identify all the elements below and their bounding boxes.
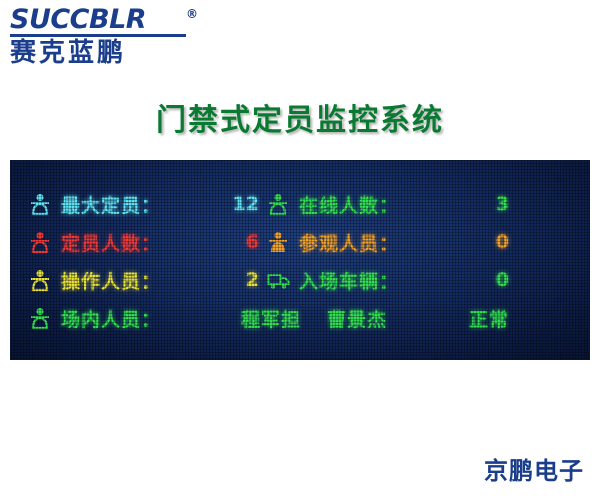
onsite-name-2: 曹景杰 bbox=[327, 305, 387, 332]
person-red-icon bbox=[29, 230, 51, 254]
visitor-count-label: 参观人员： bbox=[299, 229, 449, 256]
onsite-personnel-names: 程军担 曹景杰 正常 bbox=[215, 305, 513, 332]
assigned-count-label: 定员人数： bbox=[61, 229, 211, 256]
page-title: 门禁式定员监控系统 bbox=[0, 95, 600, 139]
footer-brand: 京鹏电子 bbox=[484, 451, 584, 486]
max-capacity-value: 12 bbox=[215, 193, 263, 215]
company-logo: SUCCBLR ® 赛克蓝鹏 bbox=[10, 6, 230, 68]
logo-latin-label: SUCCBLR bbox=[10, 4, 146, 35]
assigned-count-value: 6 bbox=[215, 231, 263, 253]
operator-count-value: 2 bbox=[215, 269, 263, 291]
logo-chinese-text: 赛克蓝鹏 bbox=[10, 39, 230, 68]
vehicles-entered-value: 0 bbox=[453, 269, 513, 291]
registered-trademark-icon: ® bbox=[186, 8, 198, 20]
person-green-icon bbox=[267, 192, 289, 216]
operator-count-label: 操作人员： bbox=[61, 267, 211, 294]
truck-green-icon bbox=[267, 268, 289, 292]
person-green-icon bbox=[29, 306, 51, 330]
max-capacity-label: 最大定员： bbox=[61, 191, 211, 218]
person-yellow-icon bbox=[29, 268, 51, 292]
led-display-panel: 最大定员： 12 在线人数： 3 定员人数： 6 bbox=[10, 160, 590, 360]
onsite-name-1: 程军担 bbox=[241, 305, 301, 332]
onsite-personnel-label: 场内人员： bbox=[61, 305, 211, 332]
logo-latin-text: SUCCBLR ® bbox=[10, 6, 146, 33]
person-orange-icon bbox=[267, 230, 289, 254]
online-count-label: 在线人数： bbox=[299, 191, 449, 218]
led-readout-grid: 最大定员： 12 在线人数： 3 定员人数： 6 bbox=[29, 185, 577, 337]
visitor-count-value: 0 bbox=[453, 231, 513, 253]
vehicles-entered-label: 入场车辆： bbox=[299, 267, 449, 294]
online-count-value: 3 bbox=[453, 193, 513, 215]
status-badge: 正常 bbox=[469, 305, 513, 332]
person-cyan-icon bbox=[29, 192, 51, 216]
